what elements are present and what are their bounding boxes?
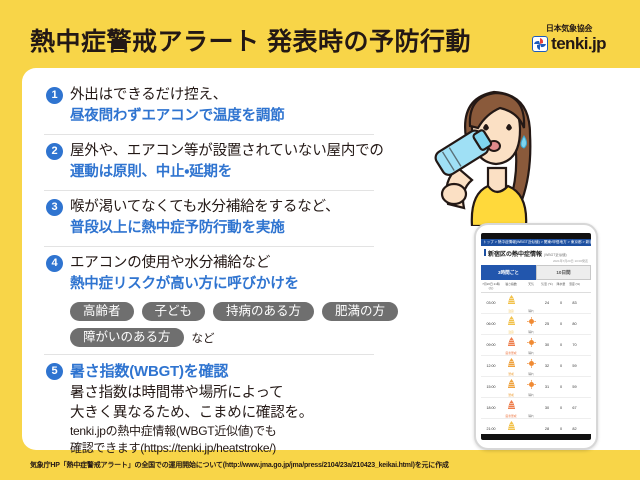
title-accent-bar [484, 249, 486, 256]
cell-time: 06:00 [482, 322, 500, 326]
phone-page-subtitle: (WBGT近似値) [544, 252, 567, 257]
cell-humidity: 59 [568, 364, 581, 368]
cell-rainfall: 0 [554, 385, 568, 389]
poster-root: 熱中症警戒アラート 発表時の予防行動 日本気象協会 tenki.jp [0, 0, 640, 480]
risk-group-tag: 肥満の方 [322, 302, 398, 321]
list-item: 3 喉が渇いてなくても水分補給をするなど、 普段以上に熱中症予防行動を実施 [44, 190, 400, 246]
cell-rainfall: 0 [554, 343, 568, 347]
cell-temperature: 30 [540, 406, 554, 410]
wbgt-level-label: 注意 [500, 436, 522, 440]
cell-wbgt-level: 厳重警戒 [500, 397, 522, 419]
list-item: 4 エアコンの使用や水分補給など 熱中症リスクが高い方に呼びかけを 高齢者子ども… [44, 246, 400, 354]
brand-name-label: tenki.jp [551, 35, 606, 52]
content-card: トップ > 熱中症情報(WBGT近似値) > 関東・甲信地方 > 東京都 > 新… [22, 68, 640, 450]
cell-humidity: 82 [568, 427, 581, 431]
tenki-jp-logo: 日本気象協会 tenki.jp [516, 24, 622, 52]
risk-group-tag-note: など [192, 330, 215, 346]
cell-humidity: 59 [568, 385, 581, 389]
phone-table-row: 09:00厳重警戒晴れ30070 [481, 335, 591, 356]
cell-weather: 晴れ [522, 376, 540, 398]
cell-rainfall: 0 [554, 427, 568, 431]
cell-weather: 晴れ [522, 418, 540, 440]
page-title: 熱中症警戒アラート 発表時の予防行動 [30, 22, 471, 58]
item-line-2: 普段以上に熱中症予防行動を実施 [70, 218, 400, 239]
phone-table-row: 21:00注意晴れ28082 [481, 419, 591, 440]
tab-3hourly[interactable]: 3時間ごと [481, 265, 536, 280]
phone-table-row: 03:00注意晴れ24083 [481, 293, 591, 314]
th-wbgt: 暑さ指数 [500, 282, 522, 290]
item-number-badge: 2 [46, 143, 63, 160]
cell-wbgt-level: 注意 [500, 418, 522, 440]
item5-title: 暑さ指数(WBGT)を確認 [70, 361, 400, 383]
item-number-badge: 1 [46, 87, 63, 104]
risk-group-tag: 子ども [142, 302, 206, 321]
cell-rainfall: 0 [554, 301, 568, 305]
cell-temperature: 28 [540, 427, 554, 431]
cell-time: 12:00 [482, 364, 500, 368]
cell-wbgt-level: 厳重警戒 [500, 334, 522, 356]
item-number-badge: 3 [46, 199, 63, 216]
list-item: 2 屋外や、エアコン等が設置されていない屋内での 運動は原則、中止・延期を [44, 134, 400, 190]
cell-time: 21:00 [482, 427, 500, 431]
th-temp: 気温 (℃) [540, 282, 554, 290]
phone-table-row: 18:00厳重警戒晴れ30067 [481, 398, 591, 419]
cell-rainfall: 0 [554, 406, 568, 410]
item-line-2: 熱中症リスクが高い方に呼びかけを [70, 274, 400, 295]
cell-time: 15:00 [482, 385, 500, 389]
phone-page-title-row: 新宿区の熱中症情報 (WBGT近似値) [481, 246, 591, 259]
item-line-2: 運動は原則、中止・延期を [70, 162, 400, 183]
cell-weather: 晴れ [522, 355, 540, 377]
phone-page-title: 新宿区の熱中症情報 [488, 249, 542, 258]
cell-weather: 晴れ [522, 313, 540, 335]
tenki-pinwheel-icon [532, 36, 548, 52]
th-rain: 降水量 [554, 282, 568, 290]
woman-drinking-water-illustration [414, 76, 574, 226]
brand-org-label: 日本気象協会 [516, 24, 622, 34]
phone-table-body: 03:00注意晴れ2408306:00注意晴れ2508009:00厳重警戒晴れ3… [481, 293, 591, 440]
phone-screen: トップ > 熱中症情報(WBGT近似値) > 関東・甲信地方 > 東京都 > 新… [481, 233, 591, 440]
cell-time: 18:00 [482, 406, 500, 410]
risk-group-tag: 持病のある方 [213, 302, 314, 321]
cell-temperature: 32 [540, 364, 554, 368]
risk-group-tag: 障がいのある方 [70, 328, 184, 347]
cell-time: 09:00 [482, 343, 500, 347]
th-humidity: 湿度 (%) [568, 282, 581, 290]
list-item: 1 外出はできるだけ控え、 昼夜問わずエアコンで温度を調節 [44, 78, 400, 134]
phone-table-row: 06:00注意晴れ25080 [481, 314, 591, 335]
cell-rainfall: 0 [554, 322, 568, 326]
cell-humidity: 67 [568, 406, 581, 410]
item-line-2: 昼夜問わずエアコンで温度を調節 [70, 106, 400, 127]
footer-source-text: 気象庁HP「熱中症警戒アラート」の全国での運用開始について(http://www… [0, 460, 449, 470]
th-weather: 天気 [522, 282, 540, 290]
cell-rainfall: 0 [554, 364, 568, 368]
item-line-1: 喉が渇いてなくても水分補給をするなど、 [70, 197, 400, 218]
cell-humidity: 70 [568, 343, 581, 347]
item5-body-line-1: 暑さ指数は時間帯や場所によって [70, 383, 400, 403]
cell-temperature: 31 [540, 385, 554, 389]
cell-wbgt-level: 注意 [500, 313, 522, 335]
cell-humidity: 80 [568, 322, 581, 326]
cell-weather: 晴れ [522, 397, 540, 419]
list-item: 5 暑さ指数(WBGT)を確認 暑さ指数は時間帯や場所によって 大きく異なるため… [44, 354, 400, 464]
item-number-badge: 4 [46, 255, 63, 272]
cell-wbgt-level: 注意 [500, 292, 522, 314]
phone-table-row: 12:00警戒晴れ32059 [481, 356, 591, 377]
cell-temperature: 24 [540, 301, 554, 305]
th-time: 7月20日 21時(火) [482, 282, 500, 290]
phone-table-header: 7月20日 21時(火) 暑さ指数 天気 気温 (℃) 降水量 湿度 (%) [481, 280, 591, 293]
item-line-1: 屋外や、エアコン等が設置されていない屋内での [70, 141, 400, 162]
footer: 気象庁HP「熱中症警戒アラート」の全国での運用開始について(http://www… [0, 450, 640, 480]
prevention-action-list: 1 外出はできるだけ控え、 昼夜問わずエアコンで温度を調節 2 屋外や、エアコン… [44, 78, 400, 464]
item-number-badge: 5 [46, 363, 63, 380]
risk-group-tag: 高齢者 [70, 302, 134, 321]
item-line-1: エアコンの使用や水分補給など [70, 253, 400, 274]
cell-humidity: 83 [568, 301, 581, 305]
phone-tabs: 3時間ごと 10日間 [481, 265, 591, 280]
cell-wbgt-level: 警戒 [500, 376, 522, 398]
cell-wbgt-level: 警戒 [500, 355, 522, 377]
item5-note-line-1: tenki.jpの熱中症情報(WBGT近似値)でも [70, 423, 400, 440]
item-line-1: 外出はできるだけ控え、 [70, 85, 400, 106]
item5-body-line-2: 大きく異なるため、こまめに確認を。 [70, 403, 400, 423]
cell-weather: 晴れ [522, 334, 540, 356]
header: 熱中症警戒アラート 発表時の予防行動 日本気象協会 tenki.jp [0, 0, 640, 68]
weather-label: 晴れ [522, 436, 540, 440]
cell-temperature: 30 [540, 343, 554, 347]
smartphone-mockup: トップ > 熱中症情報(WBGT近似値) > 関東・甲信地方 > 東京都 > 新… [474, 223, 598, 450]
cell-weather: 晴れ [522, 292, 540, 314]
cell-temperature: 25 [540, 322, 554, 326]
cell-time: 03:00 [482, 301, 500, 305]
phone-breadcrumb[interactable]: トップ > 熱中症情報(WBGT近似値) > 関東・甲信地方 > 東京都 > 新… [481, 239, 591, 246]
tab-10days[interactable]: 10日間 [536, 265, 591, 280]
phone-table-row: 15:00警戒晴れ31059 [481, 377, 591, 398]
risk-group-tag-list: 高齢者子ども持病のある方肥満の方障がいのある方など [70, 302, 400, 347]
